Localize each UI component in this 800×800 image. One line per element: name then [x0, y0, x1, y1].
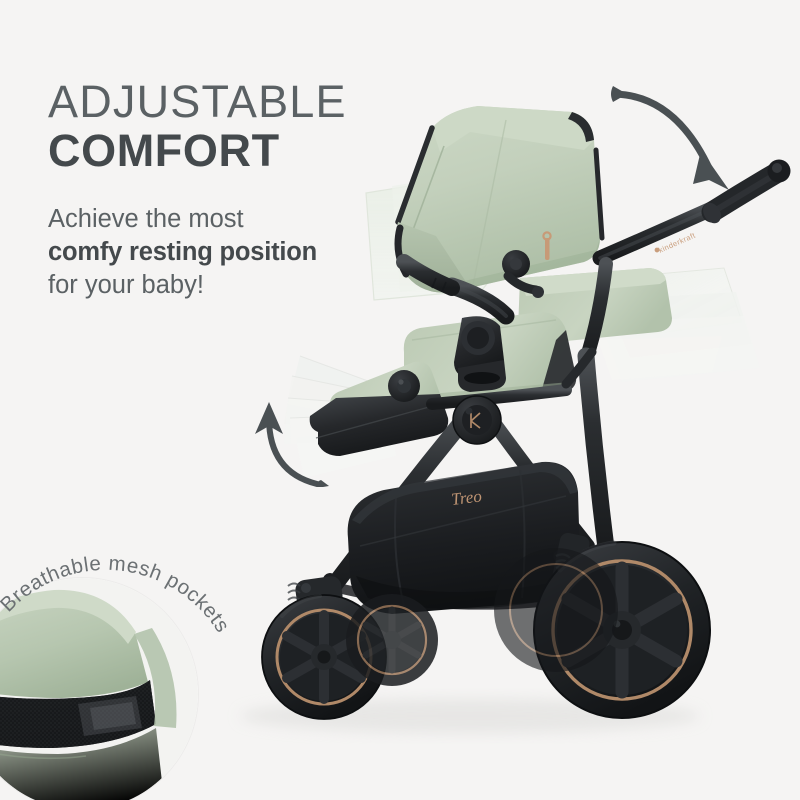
headline-line-1: ADJUSTABLE: [48, 78, 418, 126]
inset-circle-frame: [0, 578, 198, 800]
fold-hub: [453, 396, 501, 444]
rear-wheel-far: [494, 548, 618, 672]
model-wordmark: Treo: [450, 486, 483, 509]
front-wheel-far: [346, 594, 438, 686]
subheading-line-3: for your baby!: [48, 269, 418, 302]
copy-block: ADJUSTABLE COMFORT Achieve the most comf…: [48, 78, 418, 303]
recline-down-arrow: [605, 72, 780, 197]
footrest-up-arrow: [243, 392, 353, 487]
subheading-line-2: comfy resting position: [48, 236, 418, 269]
headline-line-2: COMFORT: [48, 126, 418, 176]
subheading-block: Achieve the most comfy resting position …: [48, 203, 418, 302]
inset-photo: [0, 578, 198, 800]
mesh-pocket-inset: [0, 578, 198, 800]
product-marketing-banner: kinderkraft: [0, 0, 800, 800]
subheading-line-1: Achieve the most: [48, 203, 418, 236]
